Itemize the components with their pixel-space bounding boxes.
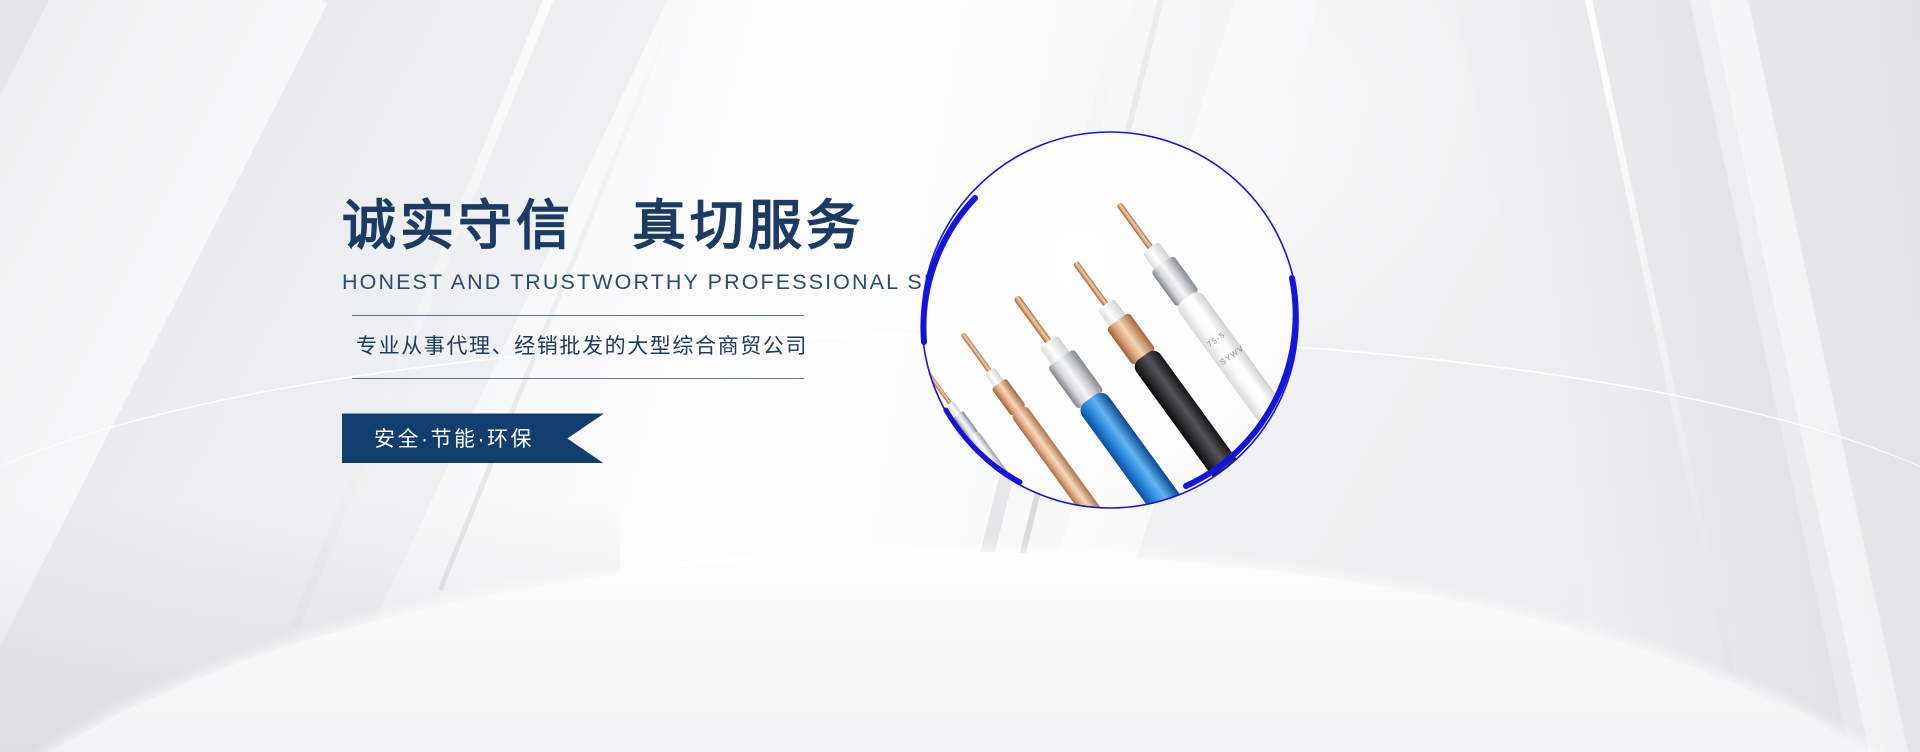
headline-part-1: 诚实守信 <box>342 196 574 256</box>
headline-part-2: 真切服务 <box>632 196 864 256</box>
circle-ring-decoration <box>900 110 1320 530</box>
product-circle: 75-5 SYWV <box>900 110 1320 530</box>
ring-accent-arc-left <box>923 198 975 342</box>
feature-ribbon[interactable]: 安全·节能·环保 <box>342 413 604 463</box>
ring-accent-arc-bottom <box>946 410 1020 482</box>
divider-top <box>352 315 804 316</box>
page-title: 诚实守信 真切服务 <box>342 196 862 256</box>
divider-bottom <box>352 378 804 379</box>
tagline-chinese: 专业从事代理、经销批发的大型综合商贸公司 <box>356 330 862 360</box>
banner-copy: 诚实守信 真切服务 HONEST AND TRUSTWORTHY PROFESS… <box>342 196 862 463</box>
ribbon-label: 安全·节能·环保 <box>342 413 604 463</box>
subtitle-english: HONEST AND TRUSTWORTHY PROFESSIONAL SERV… <box>342 270 862 295</box>
